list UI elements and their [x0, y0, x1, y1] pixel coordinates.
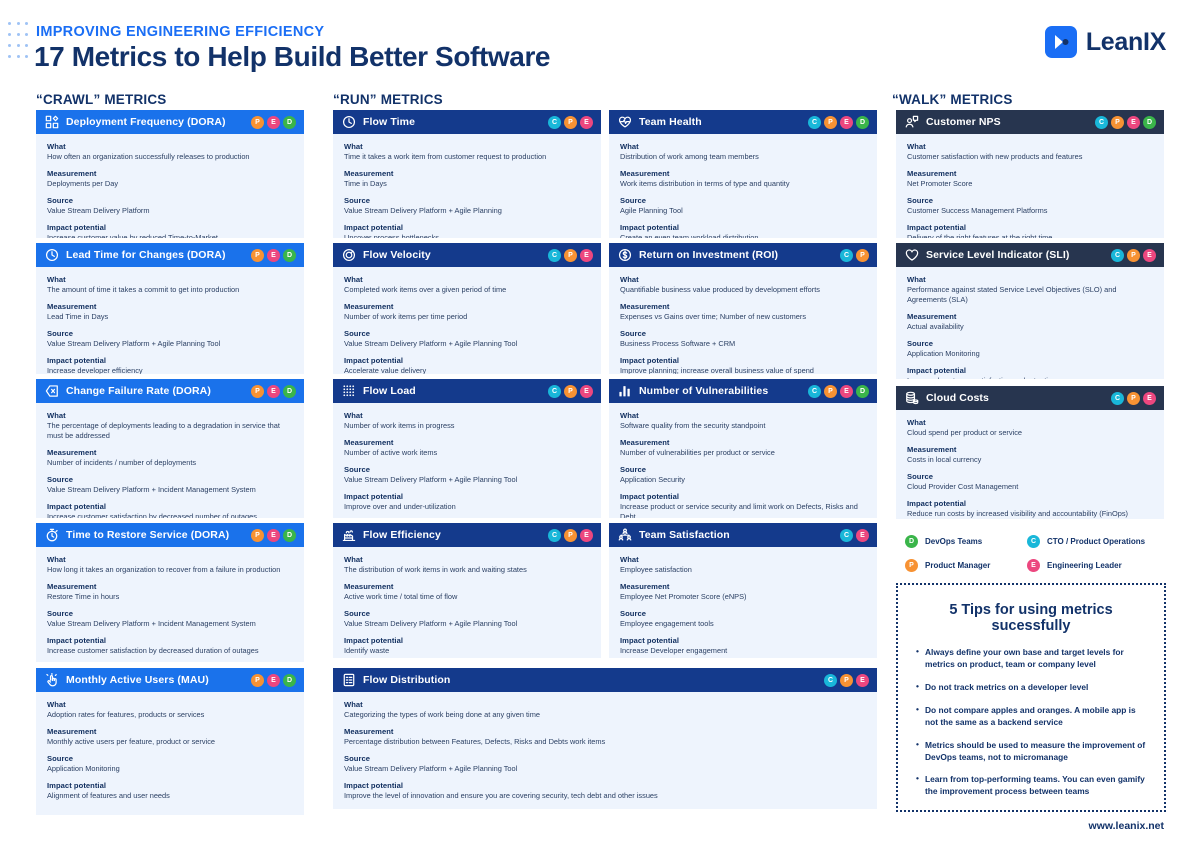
- field-value-what: How often an organization successfully r…: [47, 152, 294, 162]
- metric-card-body: What Completed work items over a given p…: [333, 267, 601, 374]
- field-value-source: Value Stream Delivery Platform + Agile P…: [344, 206, 591, 216]
- field-label-what: What: [344, 142, 591, 151]
- role-badge-c: C: [548, 385, 561, 398]
- field-value-what: The percentage of deployments leading to…: [47, 421, 294, 441]
- tips-box: 5 Tips for using metrics sucessfully Alw…: [896, 583, 1166, 812]
- metric-card-title: Service Level Indicator (SLI): [926, 249, 1104, 261]
- field-value-measurement: Costs in local currency: [907, 455, 1154, 465]
- legend-item: E Engineering Leader: [1027, 559, 1177, 572]
- role-badge-e: E: [580, 249, 593, 262]
- field-value-measurement: Work items distribution in terms of type…: [620, 179, 867, 189]
- field-label-impact: Impact potential: [344, 636, 591, 645]
- metric-card-header: Service Level Indicator (SLI) CPE: [896, 243, 1164, 267]
- metric-card-body: What Performance against stated Service …: [896, 267, 1164, 379]
- role-badges: PED: [251, 385, 296, 398]
- field-label-source: Source: [344, 465, 591, 474]
- field-label-measurement: Measurement: [907, 169, 1154, 178]
- role-badge-e: E: [1143, 249, 1156, 262]
- metric-card-title: Deployment Frequency (DORA): [66, 116, 244, 128]
- role-badge-p: P: [251, 529, 264, 542]
- metric-card: Lead Time for Changes (DORA) PED What Th…: [36, 243, 304, 374]
- field-label-source: Source: [47, 609, 294, 618]
- field-value-what: Software quality from the security stand…: [620, 421, 867, 431]
- field-label-impact: Impact potential: [47, 356, 294, 365]
- field-value-measurement: Number of vulnerabilities per product or…: [620, 448, 867, 458]
- brand-name: LeanIX: [1086, 28, 1166, 57]
- role-badges: PED: [251, 249, 296, 262]
- field-value-impact: Improve over and under-utilization: [344, 502, 591, 512]
- field-value-source: Application Monitoring: [907, 349, 1154, 359]
- metric-card-body: What Categorizing the types of work bein…: [333, 692, 877, 807]
- metric-card-header: Flow Time CPE: [333, 110, 601, 134]
- field-label-impact: Impact potential: [620, 636, 867, 645]
- field-label-what: What: [907, 275, 1154, 284]
- metric-card-header: Flow Distribution CPE: [333, 668, 877, 692]
- role-badge-e: E: [1127, 116, 1140, 129]
- metric-card-title: Flow Load: [363, 385, 541, 397]
- field-label-impact: Impact potential: [47, 781, 294, 790]
- field-value-impact: Increase developer efficiency: [47, 366, 294, 374]
- field-label-what: What: [620, 411, 867, 420]
- field-value-what: Adoption rates for features, products or…: [47, 710, 294, 720]
- metric-card-title: Cloud Costs: [926, 392, 1104, 404]
- speedometer-icon: [342, 248, 356, 262]
- click-hand-icon: [45, 673, 59, 687]
- field-label-measurement: Measurement: [47, 582, 294, 591]
- role-badges: CPED: [808, 116, 869, 129]
- role-badge-e: E: [580, 385, 593, 398]
- metric-card-header: Lead Time for Changes (DORA) PED: [36, 243, 304, 267]
- metric-card: Monthly Active Users (MAU) PED What Adop…: [36, 668, 304, 815]
- field-label-measurement: Measurement: [47, 448, 294, 457]
- field-label-impact: Impact potential: [47, 223, 294, 232]
- metric-card-title: Flow Time: [363, 116, 541, 128]
- field-value-measurement: Actual availability: [907, 322, 1154, 332]
- role-badges: CPED: [808, 385, 869, 398]
- field-label-what: What: [344, 700, 867, 709]
- field-label-measurement: Measurement: [47, 302, 294, 311]
- role-badge-d: D: [283, 385, 296, 398]
- role-badge-e: E: [840, 385, 853, 398]
- field-value-what: Time it takes a work item from customer …: [344, 152, 591, 162]
- field-value-impact: Increase product or service security and…: [620, 502, 867, 518]
- metric-card-header: Team Health CPED: [609, 110, 877, 134]
- metric-card: Team Health CPED What Distribution of wo…: [609, 110, 877, 238]
- role-badge-p: P: [251, 674, 264, 687]
- metric-card: Cloud Costs CPE What Cloud spend per pro…: [896, 386, 1164, 519]
- field-value-source: Value Stream Delivery Platform: [47, 206, 294, 216]
- field-label-what: What: [47, 275, 294, 284]
- field-value-source: Value Stream Delivery Platform + Inciden…: [47, 619, 294, 629]
- role-badge-e: E: [580, 529, 593, 542]
- metric-card: Flow Load CPE What Number of work items …: [333, 379, 601, 518]
- legend-item: D DevOps Teams: [905, 535, 1027, 548]
- field-label-measurement: Measurement: [344, 727, 867, 736]
- role-badge-c: C: [808, 116, 821, 129]
- field-label-what: What: [47, 555, 294, 564]
- role-badge-d: D: [283, 529, 296, 542]
- metric-card: Service Level Indicator (SLI) CPE What P…: [896, 243, 1164, 379]
- field-value-source: Value Stream Delivery Platform + Agile P…: [344, 764, 867, 774]
- role-legend: D DevOps TeamsC CTO / Product Operations…: [905, 535, 1180, 572]
- metric-card-body: What Cloud spend per product or service …: [896, 410, 1164, 519]
- field-label-what: What: [47, 700, 294, 709]
- role-badge-d: D: [283, 116, 296, 129]
- tip-item: Always define your own base and target l…: [916, 647, 1148, 671]
- field-value-measurement: Number of work items per time period: [344, 312, 591, 322]
- role-badge-d: D: [1143, 116, 1156, 129]
- footer-url: www.leanix.net: [1089, 820, 1164, 832]
- field-label-measurement: Measurement: [907, 312, 1154, 321]
- tips-title: 5 Tips for using metrics sucessfully: [912, 602, 1150, 634]
- metric-card-body: What Customer satisfaction with new prod…: [896, 134, 1164, 238]
- metric-card-header: Return on Investment (ROI) CP: [609, 243, 877, 267]
- field-label-source: Source: [47, 329, 294, 338]
- field-value-source: Employee engagement tools: [620, 619, 867, 629]
- field-value-measurement: Number of incidents / number of deployme…: [47, 458, 294, 468]
- legend-badge-p: P: [905, 559, 918, 572]
- metric-card-body: What Number of work items in progress Me…: [333, 403, 601, 518]
- field-value-measurement: Employee Net Promoter Score (eNPS): [620, 592, 867, 602]
- metric-card-body: What The distribution of work items in w…: [333, 547, 601, 658]
- role-badge-p: P: [1127, 392, 1140, 405]
- metric-card: Time to Restore Service (DORA) PED What …: [36, 523, 304, 662]
- role-badge-e: E: [267, 385, 280, 398]
- field-label-source: Source: [47, 475, 294, 484]
- field-label-impact: Impact potential: [907, 366, 1154, 375]
- metric-card: Flow Distribution CPE What Categorizing …: [333, 668, 877, 809]
- metric-card-title: Number of Vulnerabilities: [639, 385, 801, 397]
- role-badge-e: E: [267, 116, 280, 129]
- role-badge-e: E: [856, 529, 869, 542]
- tip-item: Do not compare apples and oranges. A mob…: [916, 705, 1148, 729]
- metric-card-header: Monthly Active Users (MAU) PED: [36, 668, 304, 692]
- metric-card-title: Team Satisfaction: [639, 529, 833, 541]
- field-value-source: Application Security: [620, 475, 867, 485]
- metric-card-header: Team Satisfaction CE: [609, 523, 877, 547]
- field-label-impact: Impact potential: [620, 356, 867, 365]
- field-value-measurement: Lead Time in Days: [47, 312, 294, 322]
- metric-card-title: Time to Restore Service (DORA): [66, 529, 244, 541]
- role-badge-p: P: [251, 249, 264, 262]
- role-badge-e: E: [1143, 392, 1156, 405]
- tip-item: Learn from top-performing teams. You can…: [916, 774, 1148, 798]
- factory-icon: [342, 528, 356, 542]
- column-title-crawl: “CRAWL” METRICS: [36, 92, 167, 107]
- field-label-what: What: [344, 555, 591, 564]
- role-badge-p: P: [840, 674, 853, 687]
- role-badge-c: C: [824, 674, 837, 687]
- field-label-impact: Impact potential: [620, 492, 867, 501]
- metric-card-title: Team Health: [639, 116, 801, 128]
- field-value-source: Business Process Software + CRM: [620, 339, 867, 349]
- header-kicker: IMPROVING ENGINEERING EFFICIENCY: [36, 24, 324, 40]
- field-label-what: What: [620, 142, 867, 151]
- role-badge-c: C: [548, 116, 561, 129]
- role-badges: CPE: [1111, 392, 1156, 405]
- role-badge-e: E: [267, 674, 280, 687]
- field-label-impact: Impact potential: [907, 223, 1154, 232]
- tip-item: Do not track metrics on a developer leve…: [916, 682, 1148, 694]
- field-label-source: Source: [344, 329, 591, 338]
- metric-card-body: What The percentage of deployments leadi…: [36, 403, 304, 518]
- field-label-what: What: [907, 142, 1154, 151]
- legend-label: Engineering Leader: [1047, 561, 1122, 570]
- metric-card-header: Customer NPS CPED: [896, 110, 1164, 134]
- field-value-what: How long it takes an organization to rec…: [47, 565, 294, 575]
- metric-card-body: What How long it takes an organization t…: [36, 547, 304, 662]
- field-value-measurement: Deployments per Day: [47, 179, 294, 189]
- field-label-impact: Impact potential: [47, 636, 294, 645]
- role-badge-p: P: [564, 529, 577, 542]
- metric-card: Deployment Frequency (DORA) PED What How…: [36, 110, 304, 238]
- metric-card-body: What Employee satisfaction Measurement E…: [609, 547, 877, 658]
- legend-label: Product Manager: [925, 561, 990, 570]
- metric-card: Flow Time CPE What Time it takes a work …: [333, 110, 601, 238]
- field-value-what: Categorizing the types of work being don…: [344, 710, 867, 720]
- role-badges: CPE: [548, 116, 593, 129]
- role-badge-e: E: [840, 116, 853, 129]
- metric-card-header: Deployment Frequency (DORA) PED: [36, 110, 304, 134]
- org-chart-icon: [618, 528, 632, 542]
- role-badge-p: P: [856, 249, 869, 262]
- role-badges: PED: [251, 529, 296, 542]
- role-badge-c: C: [548, 249, 561, 262]
- field-value-source: Value Stream Delivery Platform + Agile P…: [344, 475, 591, 485]
- field-value-what: Completed work items over a given period…: [344, 285, 591, 295]
- checklist-icon: [342, 673, 356, 687]
- metric-card-header: Flow Load CPE: [333, 379, 601, 403]
- field-value-measurement: Monthly active users per feature, produc…: [47, 737, 294, 747]
- field-value-impact: Improve the level of innovation and ensu…: [344, 791, 867, 801]
- field-label-impact: Impact potential: [907, 499, 1154, 508]
- money-icon: [618, 248, 632, 262]
- role-badges: PED: [251, 116, 296, 129]
- role-badges: PED: [251, 674, 296, 687]
- metric-card-body: What Distribution of work among team mem…: [609, 134, 877, 238]
- metric-card: Flow Efficiency CPE What The distributio…: [333, 523, 601, 658]
- clock-icon: [45, 248, 59, 262]
- server-coins-icon: [905, 391, 919, 405]
- role-badge-c: C: [808, 385, 821, 398]
- role-badge-c: C: [840, 249, 853, 262]
- field-value-measurement: Expenses vs Gains over time; Number of n…: [620, 312, 867, 322]
- role-badge-p: P: [824, 116, 837, 129]
- clock-icon: [342, 115, 356, 129]
- field-label-source: Source: [907, 472, 1154, 481]
- field-value-impact: Delivery of the right features at the ri…: [907, 233, 1154, 238]
- field-value-measurement: Restore Time in hours: [47, 592, 294, 602]
- role-badge-e: E: [267, 529, 280, 542]
- field-value-what: Cloud spend per product or service: [907, 428, 1154, 438]
- field-value-source: Cloud Provider Cost Management: [907, 482, 1154, 492]
- field-label-what: What: [344, 411, 591, 420]
- role-badge-p: P: [564, 385, 577, 398]
- field-label-what: What: [47, 142, 294, 151]
- legend-badge-e: E: [1027, 559, 1040, 572]
- field-value-measurement: Percentage distribution between Features…: [344, 737, 867, 747]
- field-value-source: Value Stream Delivery Platform + Agile P…: [47, 339, 294, 349]
- field-value-source: Customer Success Management Platforms: [907, 206, 1154, 216]
- role-badge-e: E: [580, 116, 593, 129]
- field-label-measurement: Measurement: [620, 169, 867, 178]
- metric-card: Change Failure Rate (DORA) PED What The …: [36, 379, 304, 518]
- role-badge-p: P: [564, 116, 577, 129]
- field-label-measurement: Measurement: [344, 302, 591, 311]
- field-label-measurement: Measurement: [344, 582, 591, 591]
- field-label-what: What: [907, 418, 1154, 427]
- field-label-source: Source: [344, 196, 591, 205]
- field-label-impact: Impact potential: [344, 356, 591, 365]
- field-value-impact: Improve planning; increase overall busin…: [620, 366, 867, 374]
- metric-card-body: What How often an organization successfu…: [36, 134, 304, 238]
- field-label-measurement: Measurement: [620, 438, 867, 447]
- role-badge-d: D: [856, 116, 869, 129]
- leanix-logo-icon: [1045, 26, 1077, 58]
- field-label-source: Source: [620, 609, 867, 618]
- field-value-what: Employee satisfaction: [620, 565, 867, 575]
- legend-badge-c: C: [1027, 535, 1040, 548]
- user-feedback-icon: [905, 115, 919, 129]
- role-badge-c: C: [1111, 392, 1124, 405]
- field-value-impact: Increase customer satisfaction by decrea…: [47, 512, 294, 518]
- brand-logo: LeanIX: [1045, 26, 1166, 58]
- tips-list: Always define your own base and target l…: [916, 647, 1148, 798]
- field-label-measurement: Measurement: [47, 169, 294, 178]
- role-badge-p: P: [251, 385, 264, 398]
- metric-card-body: What Time it takes a work item from cust…: [333, 134, 601, 238]
- role-badge-e: E: [267, 249, 280, 262]
- field-label-source: Source: [620, 465, 867, 474]
- legend-item: C CTO / Product Operations: [1027, 535, 1177, 548]
- role-badges: CPE: [1111, 249, 1156, 262]
- metric-card-title: Flow Velocity: [363, 249, 541, 261]
- metric-card-title: Lead Time for Changes (DORA): [66, 249, 244, 261]
- heart-icon: [905, 248, 919, 262]
- metric-card-title: Flow Distribution: [363, 674, 817, 686]
- field-value-what: Distribution of work among team members: [620, 152, 867, 162]
- metric-card-header: Flow Efficiency CPE: [333, 523, 601, 547]
- metric-card-body: What Adoption rates for features, produc…: [36, 692, 304, 807]
- metric-card-title: Customer NPS: [926, 116, 1088, 128]
- role-badge-d: D: [283, 249, 296, 262]
- role-badge-c: C: [1111, 249, 1124, 262]
- field-label-source: Source: [344, 609, 591, 618]
- column-title-run: “RUN” METRICS: [333, 92, 443, 107]
- field-label-measurement: Measurement: [620, 302, 867, 311]
- field-label-what: What: [620, 555, 867, 564]
- field-label-measurement: Measurement: [907, 445, 1154, 454]
- metric-card: Number of Vulnerabilities CPED What Soft…: [609, 379, 877, 518]
- field-value-impact: Increase customer value by reduced Time-…: [47, 233, 294, 238]
- field-value-impact: Increase customer satisfaction by decrea…: [47, 646, 294, 656]
- field-label-source: Source: [907, 196, 1154, 205]
- field-label-what: What: [47, 411, 294, 420]
- squares-icon: [45, 115, 59, 129]
- metric-card-title: Return on Investment (ROI): [639, 249, 833, 261]
- dots-grid-icon: [342, 384, 356, 398]
- field-label-impact: Impact potential: [344, 492, 591, 501]
- page-header: IMPROVING ENGINEERING EFFICIENCY 17 Metr…: [0, 0, 1200, 80]
- field-value-impact: Uncover process bottlenecks: [344, 233, 591, 238]
- field-value-source: Agile Planning Tool: [620, 206, 867, 216]
- metric-card: Team Satisfaction CE What Employee satis…: [609, 523, 877, 658]
- field-label-source: Source: [344, 754, 867, 763]
- role-badges: CPE: [548, 249, 593, 262]
- field-value-source: Value Stream Delivery Platform + Agile P…: [344, 619, 591, 629]
- metric-card-header: Cloud Costs CPE: [896, 386, 1164, 410]
- field-label-source: Source: [47, 754, 294, 763]
- role-badge-p: P: [824, 385, 837, 398]
- role-badge-c: C: [840, 529, 853, 542]
- field-value-what: Customer satisfaction with new products …: [907, 152, 1154, 162]
- metric-card-body: What The amount of time it takes a commi…: [36, 267, 304, 374]
- metric-card-header: Time to Restore Service (DORA) PED: [36, 523, 304, 547]
- role-badges: CPE: [824, 674, 869, 687]
- metric-card-body: What Software quality from the security …: [609, 403, 877, 518]
- role-badges: CPED: [1095, 116, 1156, 129]
- field-label-source: Source: [620, 329, 867, 338]
- column-title-walk: “WALK” METRICS: [892, 92, 1013, 107]
- field-value-what: Quantifiable business value produced by …: [620, 285, 867, 295]
- field-label-what: What: [620, 275, 867, 284]
- role-badge-c: C: [548, 529, 561, 542]
- role-badge-p: P: [1127, 249, 1140, 262]
- legend-label: CTO / Product Operations: [1047, 537, 1145, 546]
- field-value-impact: Create an even team workload distributio…: [620, 233, 867, 238]
- field-label-impact: Impact potential: [344, 781, 867, 790]
- field-label-impact: Impact potential: [620, 223, 867, 232]
- tip-item: Metrics should be used to measure the im…: [916, 740, 1148, 764]
- metric-card-title: Monthly Active Users (MAU): [66, 674, 244, 686]
- role-badges: CPE: [548, 385, 593, 398]
- role-badge-e: E: [856, 674, 869, 687]
- metric-card: Customer NPS CPED What Customer satisfac…: [896, 110, 1164, 238]
- field-label-measurement: Measurement: [47, 727, 294, 736]
- role-badge-p: P: [251, 116, 264, 129]
- field-value-impact: Alignment of features and user needs: [47, 791, 294, 801]
- metric-card-body: What Quantifiable business value produce…: [609, 267, 877, 374]
- field-value-measurement: Number of active work items: [344, 448, 591, 458]
- heart-pulse-icon: [618, 115, 632, 129]
- field-label-source: Source: [907, 339, 1154, 348]
- field-value-source: Application Monitoring: [47, 764, 294, 774]
- field-label-source: Source: [47, 196, 294, 205]
- error-box-icon: [45, 384, 59, 398]
- field-value-measurement: Net Promoter Score: [907, 179, 1154, 189]
- field-value-impact: Increase Developer engagement: [620, 646, 867, 656]
- role-badge-p: P: [564, 249, 577, 262]
- field-value-what: Performance against stated Service Level…: [907, 285, 1154, 305]
- field-value-what: Number of work items in progress: [344, 421, 591, 431]
- field-label-measurement: Measurement: [344, 169, 591, 178]
- metric-card-title: Flow Efficiency: [363, 529, 541, 541]
- field-label-source: Source: [620, 196, 867, 205]
- role-badge-d: D: [283, 674, 296, 687]
- bar-chart-icon: [618, 384, 632, 398]
- field-value-source: Value Stream Delivery Platform + Inciden…: [47, 485, 294, 495]
- field-value-impact: Identify waste: [344, 646, 591, 656]
- field-label-impact: Impact potential: [344, 223, 591, 232]
- field-value-source: Value Stream Delivery Platform + Agile P…: [344, 339, 591, 349]
- decorative-dot-grid: [8, 22, 30, 62]
- metric-card: Flow Velocity CPE What Completed work it…: [333, 243, 601, 374]
- field-label-measurement: Measurement: [344, 438, 591, 447]
- role-badges: CE: [840, 529, 869, 542]
- role-badge-p: P: [1111, 116, 1124, 129]
- legend-label: DevOps Teams: [925, 537, 982, 546]
- legend-item: P Product Manager: [905, 559, 1027, 572]
